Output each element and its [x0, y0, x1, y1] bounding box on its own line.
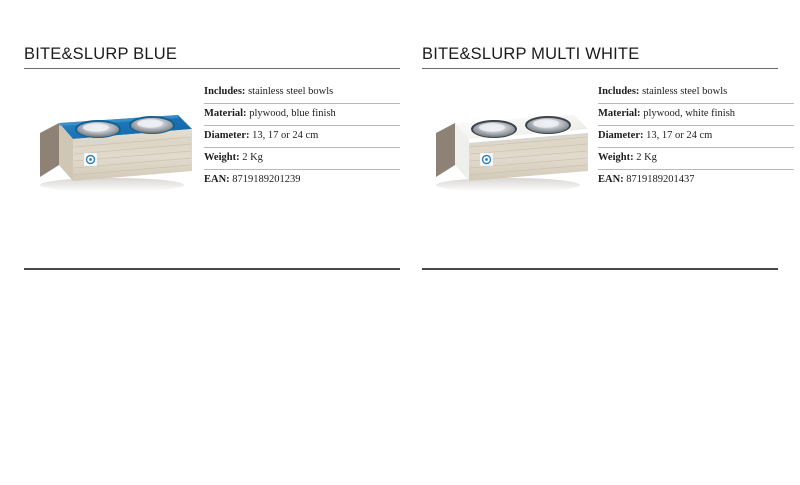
spec-row: Diameter: 13, 17 or 24 cm	[204, 125, 400, 147]
product-body-white: Includes: stainless steel bowls Material…	[422, 81, 778, 211]
spec-row: Weight: 2 Kg	[204, 147, 400, 169]
spec-value: stainless steel bowls	[248, 86, 333, 97]
spec-label: Includes:	[204, 86, 248, 97]
spec-row: EAN: 8719189201239	[204, 169, 400, 191]
section-divider-right	[422, 268, 778, 270]
spec-table-white: Includes: stainless steel bowls Material…	[598, 81, 794, 191]
spec-label: Weight:	[204, 152, 242, 163]
section-divider-left	[24, 268, 400, 270]
product-card-white: BITE&SLURP MULTI WHITE	[422, 44, 778, 211]
spec-label: Includes:	[598, 86, 642, 97]
spec-value: 2 Kg	[636, 152, 657, 163]
spec-row: EAN: 8719189201437	[598, 169, 794, 191]
product-catalog-page: BITE&SLURP BLUE	[0, 0, 800, 485]
spec-value: 2 Kg	[242, 152, 263, 163]
spec-value: plywood, white finish	[643, 108, 735, 119]
spec-row: Material: plywood, white finish	[598, 103, 794, 125]
spec-table-blue: Includes: stainless steel bowls Material…	[204, 81, 400, 191]
product-image-blue	[26, 93, 198, 199]
product-card-blue: BITE&SLURP BLUE	[24, 44, 400, 211]
spec-value: plywood, blue finish	[249, 108, 336, 119]
spec-value: 8719189201239	[232, 174, 300, 185]
spec-row: Diameter: 13, 17 or 24 cm	[598, 125, 794, 147]
spec-label: Weight:	[598, 152, 636, 163]
spec-label: Diameter:	[598, 130, 646, 141]
spec-row: Material: plywood, blue finish	[204, 103, 400, 125]
page-title: BITE&SLURP MULTI WHITE	[422, 44, 778, 64]
spec-label: Diameter:	[204, 130, 252, 141]
title-divider	[422, 68, 778, 69]
spec-value: 8719189201437	[626, 174, 694, 185]
spec-value: 13, 17 or 24 cm	[252, 130, 318, 141]
spec-value: stainless steel bowls	[642, 86, 727, 97]
spec-label: Material:	[204, 108, 249, 119]
spec-row: Includes: stainless steel bowls	[598, 81, 794, 103]
title-divider	[24, 68, 400, 69]
spec-label: EAN:	[204, 174, 232, 185]
page-title: BITE&SLURP BLUE	[24, 44, 400, 64]
spec-label: EAN:	[598, 174, 626, 185]
spec-row: Includes: stainless steel bowls	[204, 81, 400, 103]
spec-label: Material:	[598, 108, 643, 119]
spec-row: Weight: 2 Kg	[598, 147, 794, 169]
product-body-blue: Includes: stainless steel bowls Material…	[24, 81, 400, 211]
product-image-white	[422, 93, 594, 199]
spec-value: 13, 17 or 24 cm	[646, 130, 712, 141]
